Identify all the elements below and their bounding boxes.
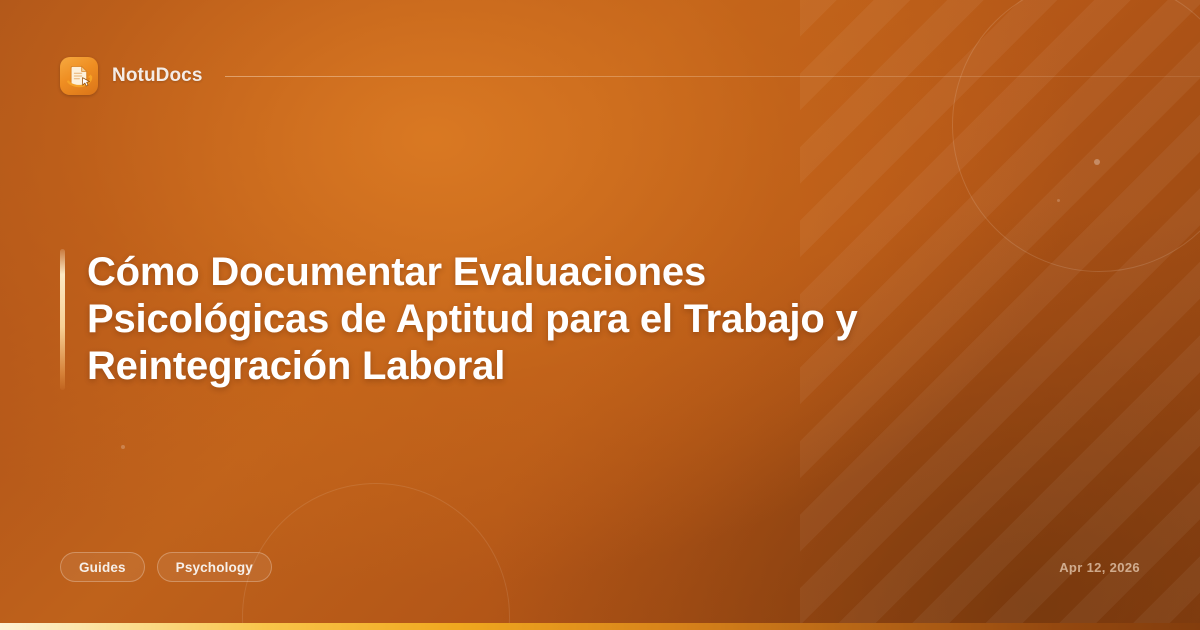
tag-list: Guides Psychology: [60, 552, 272, 582]
decorative-circle-top-right: [952, 0, 1200, 272]
decorative-dot-small: [1057, 199, 1060, 202]
header-bar: NotuDocs: [60, 56, 1200, 96]
tag-guides[interactable]: Guides: [60, 552, 145, 582]
tag-psychology[interactable]: Psychology: [157, 552, 272, 582]
bottom-accent-bar: [0, 623, 1200, 630]
decorative-dot-large: [1094, 159, 1100, 165]
title-accent-bar: [60, 249, 65, 390]
publish-date: Apr 12, 2026: [1059, 560, 1140, 575]
footer-bar: Guides Psychology Apr 12, 2026: [60, 552, 1140, 582]
decorative-dot-left: [121, 445, 125, 449]
title-block: Cómo Documentar Evaluaciones Psicológica…: [60, 249, 960, 390]
header-divider-line: [225, 76, 1200, 77]
brand-name: NotuDocs: [112, 65, 203, 87]
document-cursor-logo-icon[interactable]: [60, 57, 98, 95]
page-title: Cómo Documentar Evaluaciones Psicológica…: [87, 249, 957, 390]
article-hero-card: NotuDocs Cómo Documentar Evaluaciones Ps…: [0, 0, 1200, 630]
